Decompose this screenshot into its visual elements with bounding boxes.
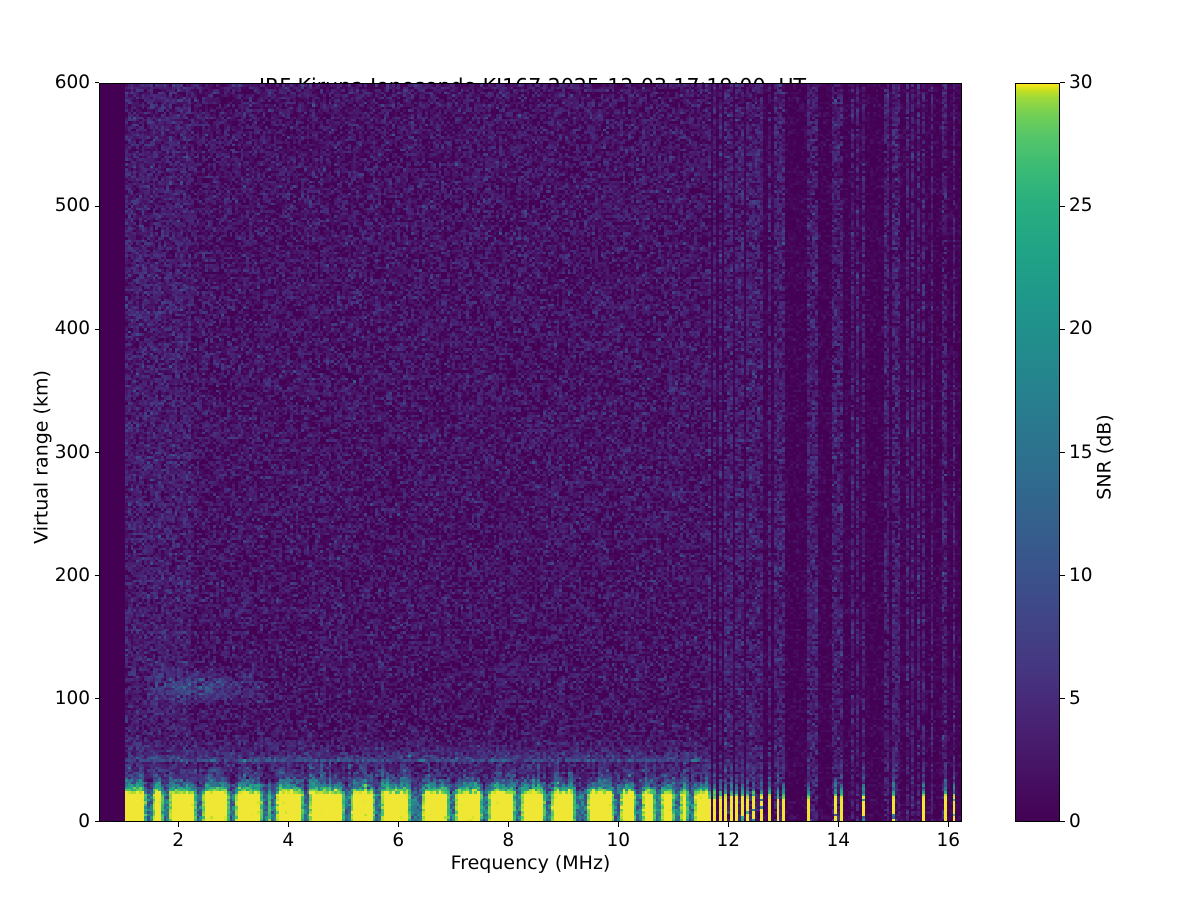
y-tick-mark xyxy=(95,82,100,83)
x-tick-mark xyxy=(728,822,729,827)
x-tick-mark xyxy=(398,822,399,827)
x-tick-mark xyxy=(618,822,619,827)
colorbar-tick-mark xyxy=(1060,821,1065,822)
y-tick-label: 200 xyxy=(55,565,90,586)
y-tick-mark xyxy=(95,206,100,207)
ionogram-plot-area[interactable] xyxy=(99,83,962,822)
y-tick-label: 500 xyxy=(55,195,90,216)
y-tick-mark xyxy=(95,329,100,330)
y-tick-mark xyxy=(95,821,100,822)
colorbar-tick-label: 30 xyxy=(1069,72,1093,93)
x-tick-mark xyxy=(948,822,949,827)
x-tick-label: 14 xyxy=(826,830,850,851)
x-tick-mark xyxy=(838,822,839,827)
colorbar-tick-mark xyxy=(1060,329,1065,330)
colorbar-tick-label: 25 xyxy=(1069,195,1093,216)
ionogram-figure: IRF Kiruna Ionosonde KI167 2025-12-03 17… xyxy=(0,0,1200,900)
y-tick-label: 600 xyxy=(55,72,90,93)
x-tick-mark xyxy=(508,822,509,827)
ionogram-heatmap-canvas xyxy=(100,84,962,822)
colorbar-label: SNR (dB) xyxy=(1094,88,1116,827)
y-tick-mark xyxy=(95,575,100,576)
x-tick-label: 4 xyxy=(282,830,294,851)
y-axis-label: Virtual range (km) xyxy=(31,88,53,827)
y-tick-mark xyxy=(95,698,100,699)
y-tick-label: 400 xyxy=(55,318,90,339)
x-tick-label: 10 xyxy=(606,830,630,851)
colorbar-tick-mark xyxy=(1060,452,1065,453)
x-axis-label: Frequency (MHz) xyxy=(99,852,962,874)
colorbar-tick-mark xyxy=(1060,698,1065,699)
colorbar-tick-mark xyxy=(1060,82,1065,83)
x-tick-mark xyxy=(178,822,179,827)
colorbar-tick-label: 15 xyxy=(1069,442,1093,463)
x-tick-label: 8 xyxy=(502,830,514,851)
x-tick-label: 16 xyxy=(936,830,960,851)
colorbar-tick-mark xyxy=(1060,206,1065,207)
y-tick-mark xyxy=(95,452,100,453)
colorbar-tick-label: 0 xyxy=(1069,811,1081,832)
colorbar-tick-label: 5 xyxy=(1069,688,1081,709)
y-tick-label: 0 xyxy=(78,811,90,832)
colorbar[interactable] xyxy=(1015,83,1060,822)
x-tick-label: 6 xyxy=(392,830,404,851)
y-tick-label: 100 xyxy=(55,688,90,709)
colorbar-tick-label: 10 xyxy=(1069,565,1093,586)
x-tick-mark xyxy=(288,822,289,827)
colorbar-tick-label: 20 xyxy=(1069,318,1093,339)
y-tick-label: 300 xyxy=(55,442,90,463)
x-tick-label: 2 xyxy=(172,830,184,851)
colorbar-tick-mark xyxy=(1060,575,1065,576)
x-tick-label: 12 xyxy=(716,830,740,851)
